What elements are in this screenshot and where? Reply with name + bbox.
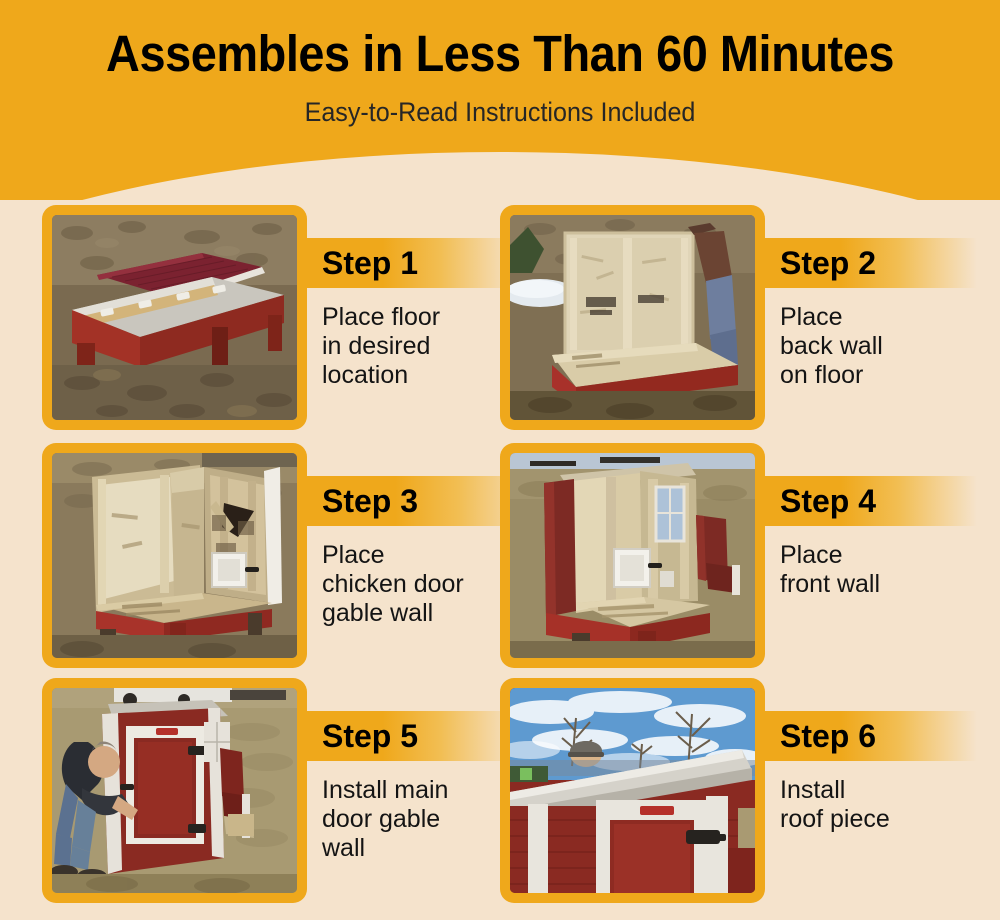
step-photo-2 <box>510 215 755 420</box>
step-title-1: Step 1 <box>322 245 418 281</box>
page-subtitle: Easy-to-Read Instructions Included <box>35 97 965 128</box>
header-curve-divider <box>0 152 1000 200</box>
step-photo-frame-3 <box>42 443 307 668</box>
back-wall-illustration <box>510 215 755 420</box>
main-door-gable-illustration <box>52 688 297 893</box>
chicken-door-gable-illustration <box>52 453 297 658</box>
step-description-5: Install main door gable wall <box>322 776 522 863</box>
steps-grid: Step 1 Place floor in desired location <box>0 200 1000 920</box>
step-card-5: Step 5 Install main door gable wall <box>42 678 512 913</box>
step-card-1: Step 1 Place floor in desired location <box>42 205 512 440</box>
step-card-2: Step 2 Place back wall on floor <box>500 205 970 440</box>
step-photo-frame-2 <box>500 205 765 430</box>
step-photo-5 <box>52 688 297 893</box>
step-title-3: Step 3 <box>322 483 418 519</box>
header-banner: Assembles in Less Than 60 Minutes Easy-t… <box>0 0 1000 200</box>
step-card-3: Step 3 Place chicken door gable wall <box>42 443 512 678</box>
step-card-4: Step 4 Place front wall <box>500 443 970 678</box>
step-description-1: Place floor in desired location <box>322 303 522 390</box>
step-description-3: Place chicken door gable wall <box>322 541 522 628</box>
step-description-4: Place front wall <box>780 541 995 599</box>
page-title: Assembles in Less Than 60 Minutes <box>40 28 960 79</box>
step-description-6: Install roof piece <box>780 776 995 834</box>
front-wall-illustration <box>510 453 755 658</box>
step-card-6: Step 6 Install roof piece <box>500 678 970 913</box>
step-photo-6 <box>510 688 755 893</box>
step-photo-frame-4 <box>500 443 765 668</box>
step-photo-1 <box>52 215 297 420</box>
step-title-4: Step 4 <box>780 483 876 519</box>
roof-piece-illustration <box>510 688 755 893</box>
step-photo-frame-1 <box>42 205 307 430</box>
coop-floor-illustration <box>52 215 297 420</box>
step-photo-frame-6 <box>500 678 765 903</box>
step-title-2: Step 2 <box>780 245 876 281</box>
step-title-5: Step 5 <box>322 718 418 754</box>
step-photo-4 <box>510 453 755 658</box>
step-title-6: Step 6 <box>780 718 876 754</box>
step-description-2: Place back wall on floor <box>780 303 995 390</box>
step-photo-frame-5 <box>42 678 307 903</box>
step-photo-3 <box>52 453 297 658</box>
